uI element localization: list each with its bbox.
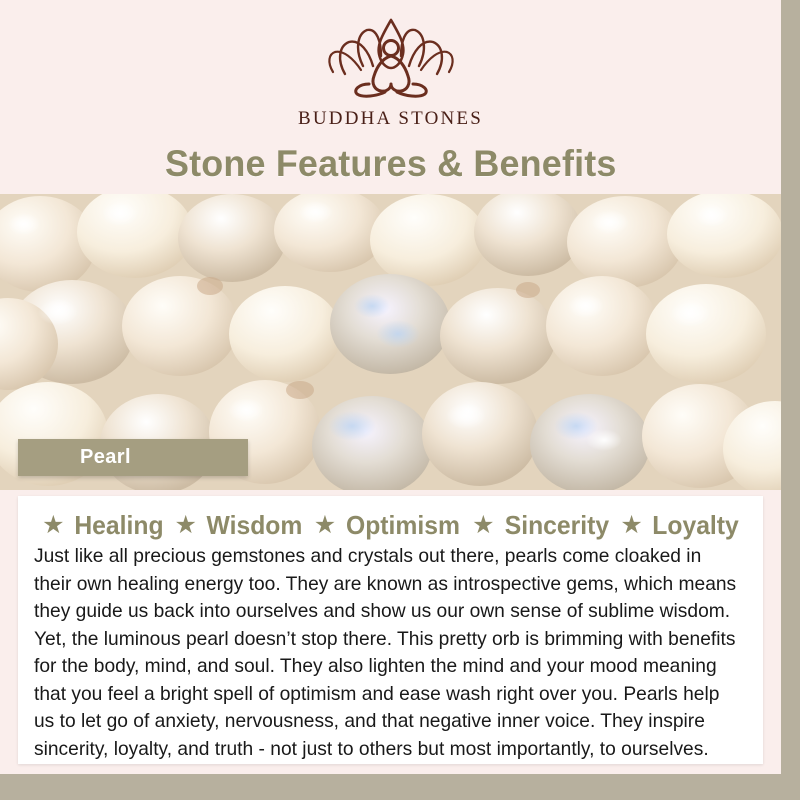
brand-name: BUDDHA STONES	[298, 108, 483, 130]
attribute-item-optimism: ★ Optimism	[314, 510, 463, 541]
content-panel: ★ Healing ★ Wisdom ★ Optimism ★ Sincerit…	[18, 496, 763, 764]
attribute-item-healing: ★ Healing	[42, 510, 165, 541]
description-text: Just like all precious gemstones and cry…	[34, 543, 738, 763]
frame-band-right	[778, 0, 800, 800]
attribute-label: Optimism	[346, 510, 460, 541]
star-icon: ★	[472, 513, 494, 538]
star-icon: ★	[174, 513, 196, 538]
attribute-item-sincerity: ★ Sincerity	[472, 510, 611, 541]
lotus-meditation-icon	[311, 14, 471, 102]
page-title-text: Stone Features & Benefits	[165, 143, 617, 185]
stone-name-text: Pearl	[80, 446, 131, 469]
attribute-label: Wisdom	[206, 510, 302, 541]
attribute-label: Loyalty	[652, 510, 738, 541]
stone-name-badge: Pearl	[18, 439, 248, 476]
star-icon: ★	[620, 513, 642, 538]
page-title: Stone Features & Benefits	[0, 143, 781, 185]
star-icon: ★	[314, 513, 336, 538]
info-card: BUDDHA STONES Stone Features & Benefits	[0, 0, 781, 774]
attribute-item-wisdom: ★ Wisdom	[174, 510, 304, 541]
attribute-list: ★ Healing ★ Wisdom ★ Optimism ★ Sincerit…	[34, 510, 749, 541]
frame-band-bottom	[0, 772, 800, 800]
attribute-item-loyalty: ★ Loyalty	[620, 510, 740, 541]
attribute-label: Sincerity	[504, 510, 608, 541]
brand-logo: BUDDHA STONES	[0, 14, 781, 130]
attribute-label: Healing	[74, 510, 163, 541]
star-icon: ★	[42, 513, 64, 538]
stone-photo: Pearl	[0, 194, 781, 490]
